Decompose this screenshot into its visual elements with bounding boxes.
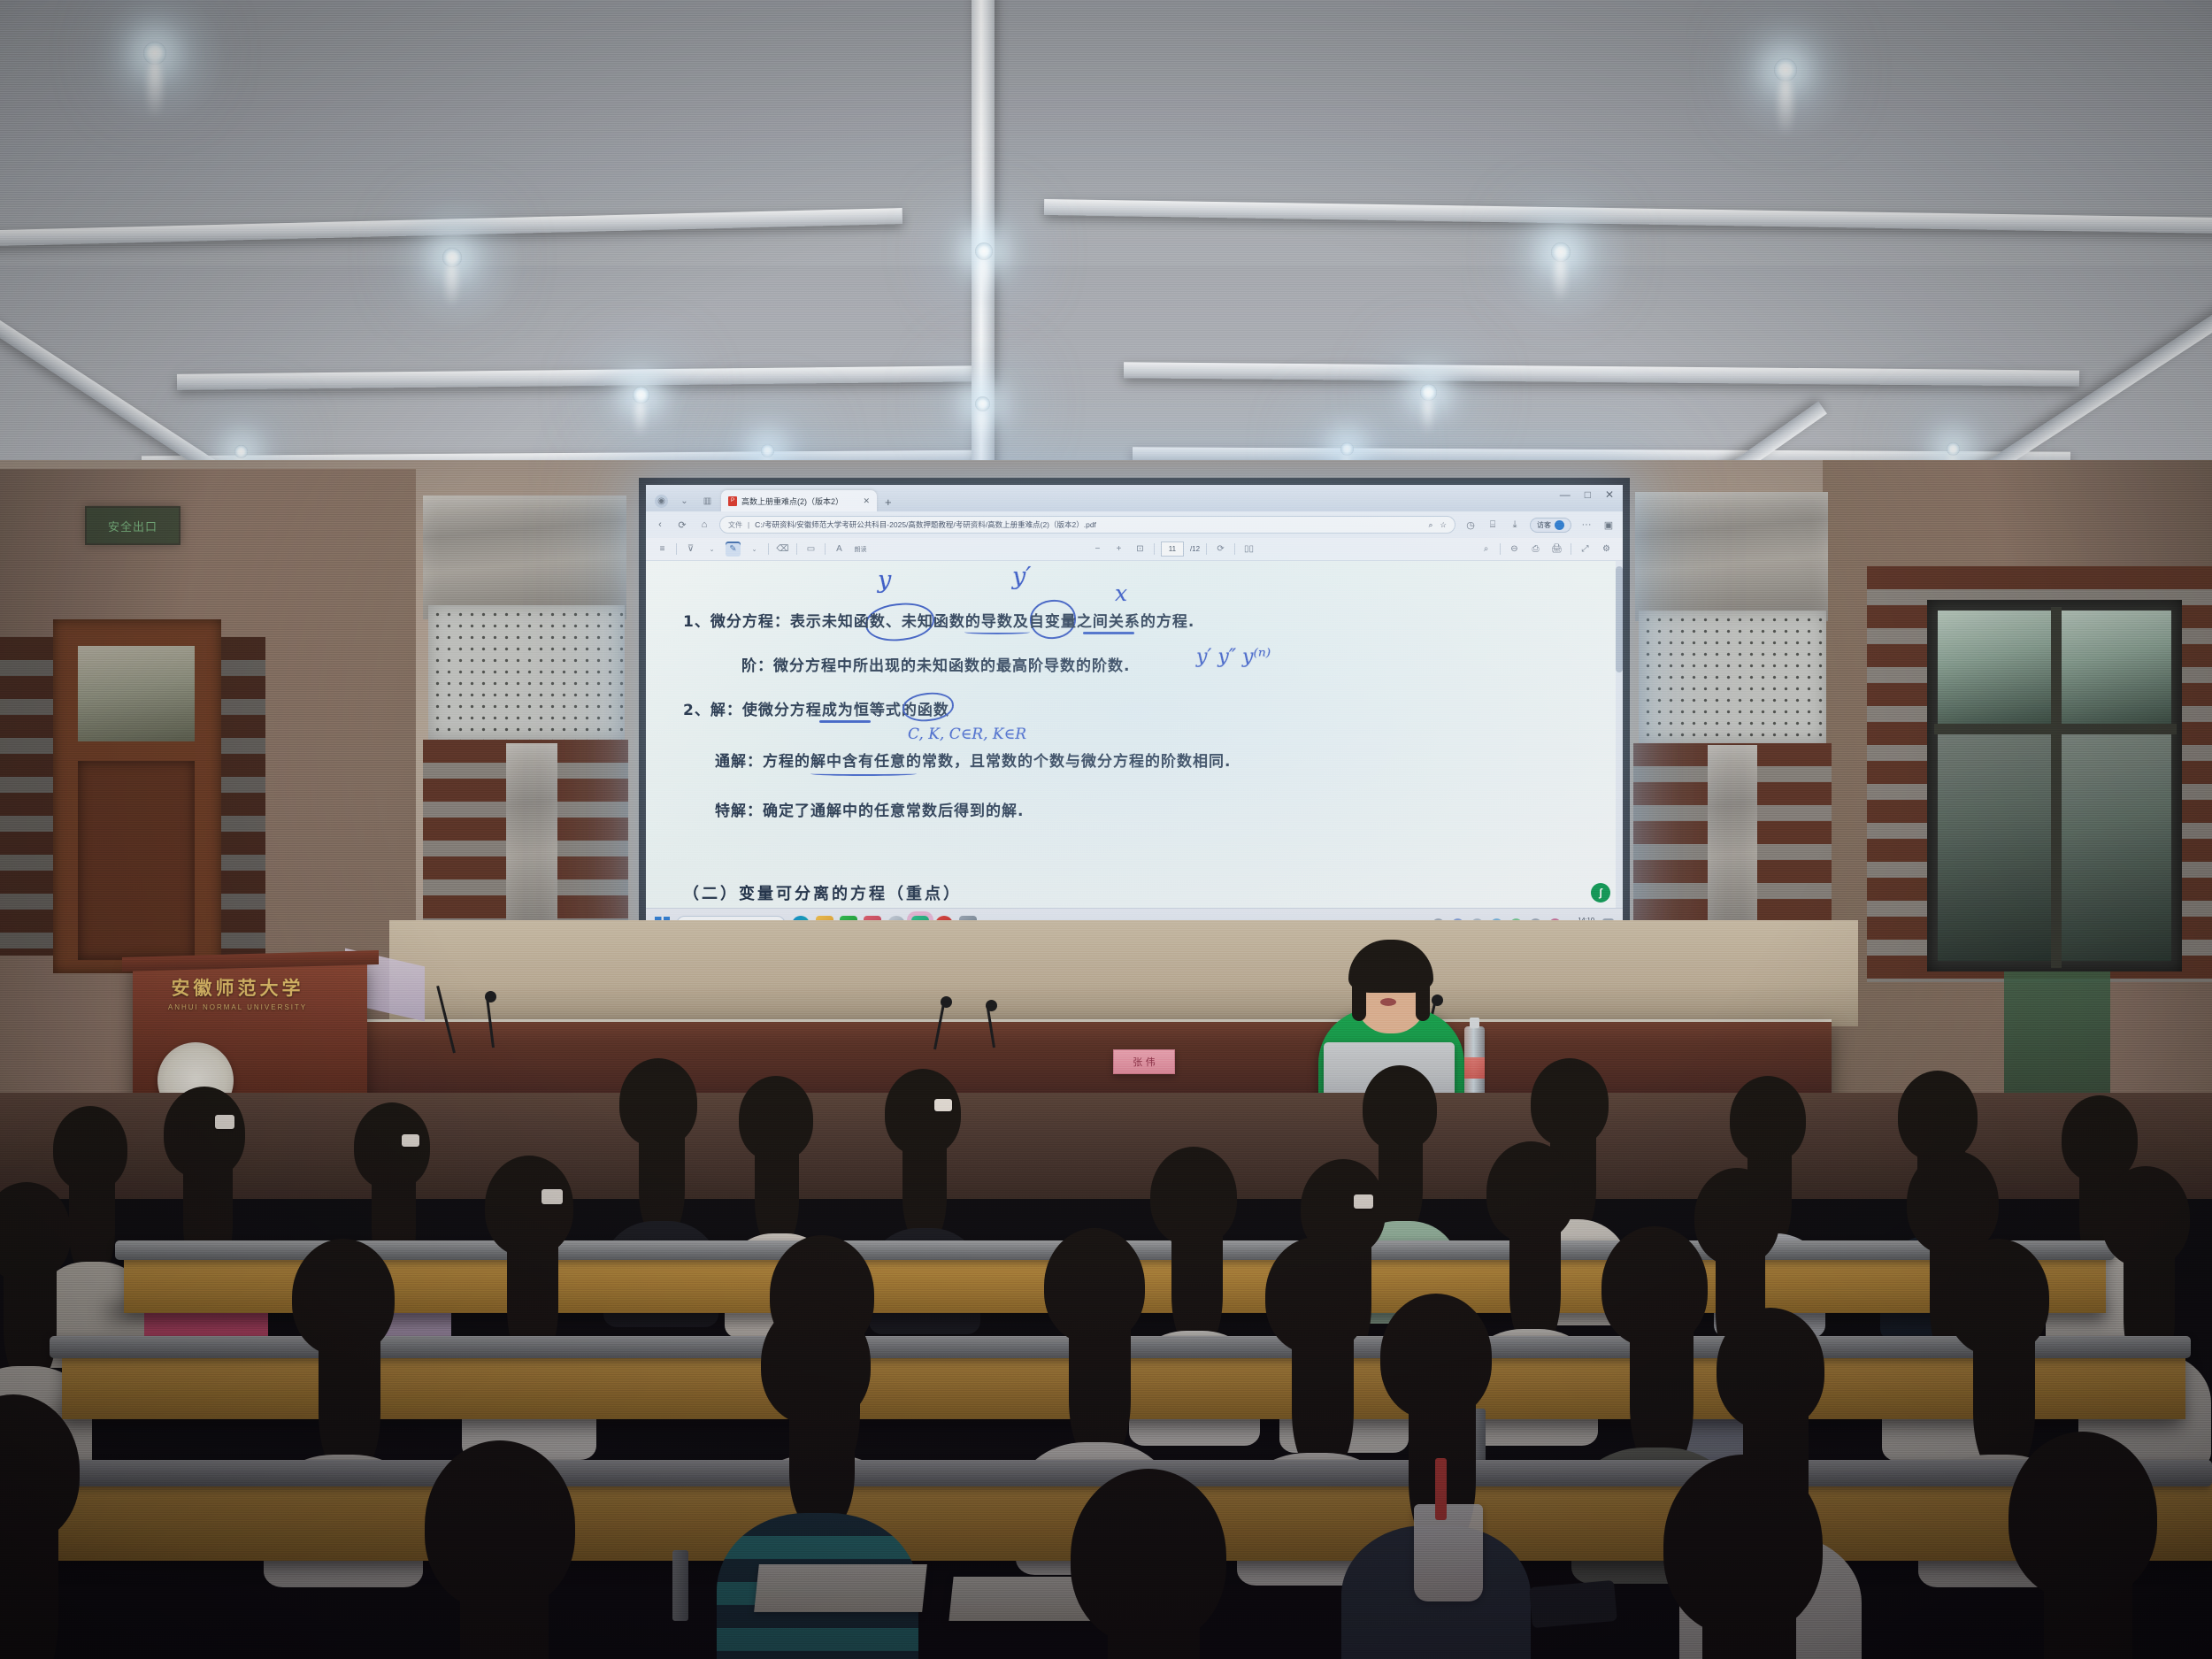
new-tab-button[interactable]: + [877,495,900,511]
zoom-in-button[interactable]: + [1111,541,1126,557]
window-mullion [2051,607,2062,968]
annotation-underline [810,772,917,776]
comment-icon[interactable]: A [832,541,847,557]
annotation-derivatives: y′ y″ y⁽ⁿ⁾ [1196,646,1271,668]
presenter-hair-left [1352,972,1366,1021]
lectern-sign: 安徽师范大学 ANHUI NORMAL UNIVERSITY [147,970,328,1016]
zoom-out-button[interactable]: − [1090,541,1105,557]
microphone-head [941,996,952,1008]
chevron-down-icon[interactable]: ⌄ [704,541,719,557]
address-bar-url: C:/考研资料/安徽师范大学考研公共科目-2025/高数押题教程/考研资料/高数… [755,519,1096,530]
annotation-constants: C, K, C∈R, K∈R [908,726,1026,743]
rotate-icon[interactable]: ⟳ [1213,541,1228,557]
right-green-panel [2004,972,2110,1113]
wps-icon[interactable]: ʃ [1591,883,1610,902]
page-total-label: /12 [1190,545,1200,553]
annotation-underline [964,630,1030,634]
search-icon[interactable]: ⌕ [1429,520,1433,530]
text-icon[interactable]: ▭ [803,541,818,557]
floor [0,1093,2212,1199]
stage-backwall [389,920,1858,1026]
read-aloud-icon[interactable]: 朗读 [853,541,868,557]
highlight-icon[interactable]: ⊽ [683,541,698,557]
browser-tab-title: 高数上册重难点(2)（版本2） [741,495,843,507]
file-scheme-label: 文件 [728,520,742,530]
straw [1435,1458,1447,1520]
water-bottle-label [1464,1057,1485,1079]
save-icon[interactable]: ⎙ [1528,541,1543,557]
slide-line: 1、微分方程：表示未知函数、未知函数的导数及自变量之间关系的方程. [683,609,1194,631]
window-pane [1938,611,2051,724]
pdf-icon: P [728,496,737,506]
avatar [1555,520,1564,530]
window-pane [2060,734,2171,961]
name-placard: 张 伟 [1113,1049,1175,1074]
profile-pill-label: 访客 [1537,520,1551,530]
annotation-y-prime: y′ [1012,563,1031,590]
maximize-button[interactable]: □ [1585,488,1591,501]
annotation-y: y [878,566,891,594]
downloads-icon[interactable]: ⤓ [1508,518,1522,532]
address-bar[interactable]: 文件 | C:/考研资料/安徽师范大学考研公共科目-2025/高数押题教程/考研… [719,516,1455,534]
home-icon[interactable]: ⌂ [697,518,711,532]
ceiling-beam [1124,362,2079,386]
settings-icon[interactable]: ⚙ [1599,541,1614,557]
collections-icon[interactable]: ⌸ [1486,518,1500,532]
exit-sign-label: 安全出口 [108,518,157,534]
microphone-head [1432,995,1443,1006]
close-icon[interactable]: ✕ [863,496,870,506]
window-mullion [1934,724,2177,734]
refresh-icon[interactable]: ⟳ [675,518,689,532]
microphone-head [986,1000,997,1011]
university-name-cn: 安徽师范大学 [172,974,304,1001]
annotation-underline [819,720,871,723]
slide-line: 通解：方程的解中含有任意的常数，且常数的个数与微分方程的阶数相同. [715,749,1231,771]
minimize-button[interactable]: — [1560,488,1571,501]
ceiling-beam [177,365,991,390]
zoom-icon[interactable]: ⊖ [1507,541,1522,557]
projection-screen: ◉ ⌄ ▥ P 高数上册重难点(2)（版本2） ✕ + — □ ✕ ‹ ⟳ ⌂ … [646,485,1623,940]
door-window [78,646,195,741]
university-name-en: ANHUI NORMAL UNIVERSITY [168,1003,307,1011]
chevron-down-icon[interactable]: ⌄ [747,541,762,557]
layout-icon[interactable]: ▯▯ [1241,541,1256,557]
acoustic-panel-left [428,605,625,740]
pillar-right [1708,745,1757,943]
slide-line: 阶：微分方程中所出现的未知函数的最高阶导数的阶数. [741,653,1130,675]
tab-actions-icon[interactable]: ⌄ [678,495,691,508]
pdf-toolbar: ≡ ⊽ ⌄ ✎ ⌄ ⌫ ▭ A 朗读 − + ⊡ 11 /12 ⟳ ▯▯ [646,538,1623,561]
bench-leg [672,1550,688,1621]
profile-pill[interactable]: 访客 [1530,518,1571,533]
presenter-mouth [1380,998,1396,1006]
vertical-tabs-icon[interactable]: ▥ [701,495,714,508]
back-icon[interactable]: ‹ [653,518,667,532]
profile-icon[interactable]: ◉ [655,495,668,508]
fullscreen-icon[interactable]: ⤢ [1578,541,1593,557]
annotation-underline [1083,632,1134,634]
browser-nav-bar: ‹ ⟳ ⌂ 文件 | C:/考研资料/安徽师范大学考研公共科目-2025/高数押… [646,511,1623,538]
star-icon[interactable]: ☆ [1440,520,1447,530]
fit-page-button[interactable]: ⊡ [1133,541,1148,557]
metal-panel-right [1635,492,1828,621]
metal-panel-left [423,495,626,619]
page-number-input[interactable]: 11 [1161,541,1184,557]
notebook [754,1564,927,1612]
omnibox-separator: | [748,521,749,529]
overflow-icon[interactable]: ··· [1579,518,1594,532]
search-icon[interactable]: ⌕ [1479,541,1494,557]
presenter-hair-right [1416,972,1430,1021]
slide-line: 特解：确定了通解中的任意常数后得到的解. [715,798,1024,820]
sidebar-toggle-icon[interactable]: ▣ [1601,518,1616,532]
draw-icon[interactable]: ✎ [726,541,741,557]
window-pane [2060,611,2171,724]
microphone-head [485,991,496,1002]
drink-cup [1414,1504,1483,1601]
name-placard-text: 张 伟 [1133,1055,1156,1069]
close-window-button[interactable]: ✕ [1605,488,1614,501]
pillar-left [506,743,557,943]
pdf-page: y y′ x 1、微分方程：表示未知函数、未知函数的导数及自变量之间关系的方程.… [646,561,1623,908]
print-icon[interactable]: 🖨 [1549,541,1564,557]
phone [1529,1580,1617,1628]
exit-sign: 安全出口 [85,506,180,545]
acoustic-panel-right [1639,611,1826,743]
browser-tab[interactable]: P 高数上册重难点(2)（版本2） ✕ [721,490,877,511]
contents-icon[interactable]: ≡ [655,541,670,557]
door-panel [78,761,195,960]
pdf-scrollbar-thumb[interactable] [1616,566,1623,672]
browser-tab-strip: ◉ ⌄ ▥ P 高数上册重难点(2)（版本2） ✕ + — □ ✕ [646,485,1623,511]
window-pane [1938,734,2051,961]
window-controls: — □ ✕ [1560,488,1614,501]
lecture-hall-photo: 安全出口 ◉ ⌄ ▥ P 高数上册重难点(2)（版本2） ✕ [0,0,2212,1659]
browser-left-icons: ◉ ⌄ ▥ [646,495,721,511]
erase-icon[interactable]: ⌫ [775,541,790,557]
history-icon[interactable]: ◷ [1463,518,1478,532]
annotation-x: x [1115,580,1127,606]
ceiling [0,0,2212,495]
slide-line: （二）变量可分离的方程（重点） [683,881,962,904]
